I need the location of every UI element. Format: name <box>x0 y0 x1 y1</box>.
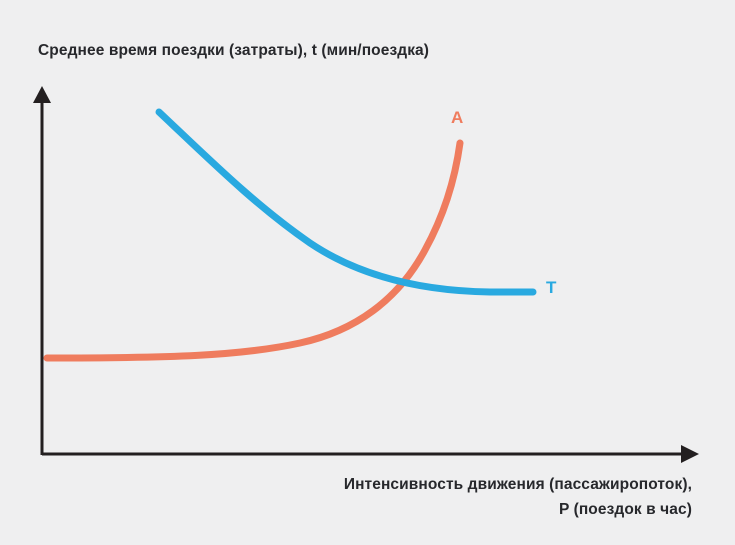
series-label-a: A <box>451 108 464 128</box>
x-axis-title-line-1: Интенсивность движения (пассажиропоток), <box>190 472 692 497</box>
x-axis-title: Интенсивность движения (пассажиропоток),… <box>190 472 692 522</box>
plot-area <box>0 0 735 545</box>
series-line-t <box>159 112 533 292</box>
x-axis-title-line-2: P (поездок в час) <box>190 497 692 522</box>
y-axis-arrow-icon <box>33 86 51 103</box>
chart-figure: Среднее время поездки (затраты), t (мин/… <box>0 0 735 545</box>
series-line-a <box>47 143 460 358</box>
x-axis-arrow-icon <box>681 445 699 463</box>
series-label-t: T <box>546 278 557 298</box>
